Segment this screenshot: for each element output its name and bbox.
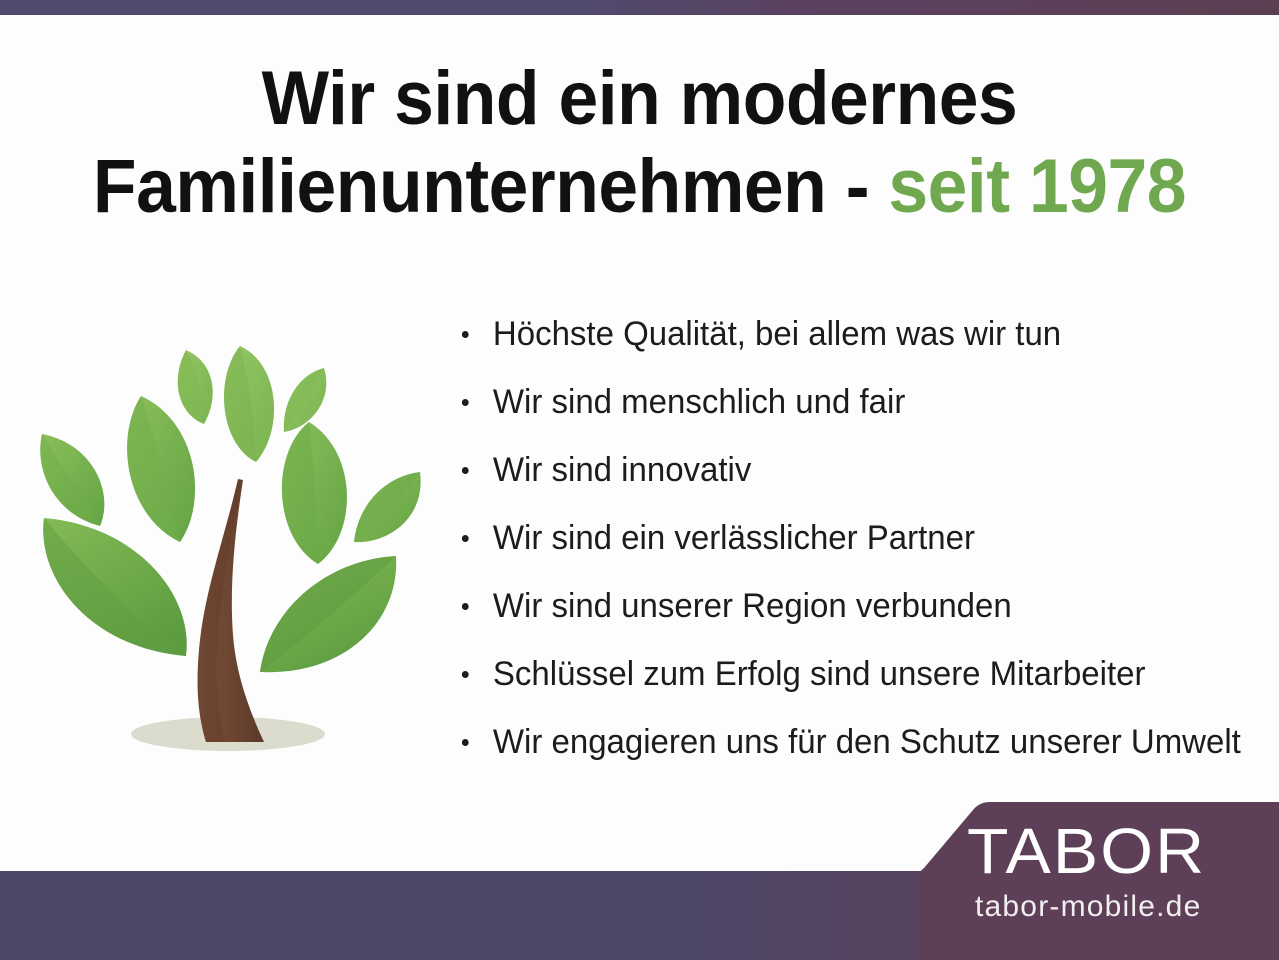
list-item-label: Höchste Qualität, bei allem was wir tun [493, 315, 1061, 353]
list-item: Wir sind innovativ [458, 436, 1244, 504]
list-item-label: Schlüssel zum Erfolg sind unsere Mitarbe… [493, 655, 1146, 693]
list-item: Wir engagieren uns für den Schutz unsere… [458, 708, 1244, 776]
list-item: Wir sind unserer Region verbunden [458, 572, 1244, 640]
logo-domain-text: tabor-mobile.de [975, 890, 1201, 924]
list-item-label: Wir engagieren uns für den Schutz unsere… [493, 723, 1241, 761]
bullet-dot-icon [462, 331, 469, 338]
tree-illustration [28, 330, 443, 760]
bullet-dot-icon [462, 399, 469, 406]
bullet-dot-icon [462, 739, 469, 746]
title-line-2-main: Familienunternehmen - [93, 144, 888, 229]
list-item-label: Wir sind ein verlässlicher Partner [493, 519, 975, 557]
list-item: Schlüssel zum Erfolg sind unsere Mitarbe… [458, 640, 1244, 708]
slide-canvas: Wir sind ein modernes Familienunternehme… [0, 0, 1279, 960]
title-line-2: Familienunternehmen - seit 1978 [38, 143, 1240, 231]
tree-icon [28, 330, 443, 760]
list-item: Wir sind ein verlässlicher Partner [458, 504, 1244, 572]
company-logo: TABOR tabor-mobile.de [905, 802, 1279, 960]
bullet-dot-icon [462, 535, 469, 542]
slide-title: Wir sind ein modernes Familienunternehme… [0, 55, 1279, 231]
list-item-label: Wir sind unserer Region verbunden [493, 587, 1012, 625]
bullet-dot-icon [462, 603, 469, 610]
list-item: Höchste Qualität, bei allem was wir tun [458, 300, 1244, 368]
bullet-dot-icon [462, 671, 469, 678]
top-accent-bar [0, 0, 1279, 15]
bullet-list: Höchste Qualität, bei allem was wir tun … [458, 300, 1268, 776]
list-item: Wir sind menschlich und fair [458, 368, 1244, 436]
list-item-label: Wir sind menschlich und fair [493, 383, 905, 421]
logo-wordmark: TABOR [967, 818, 1279, 884]
bullet-dot-icon [462, 467, 469, 474]
title-line-1: Wir sind ein modernes [38, 55, 1240, 143]
title-accent-year: seit 1978 [888, 144, 1186, 229]
list-item-label: Wir sind innovativ [493, 451, 751, 489]
